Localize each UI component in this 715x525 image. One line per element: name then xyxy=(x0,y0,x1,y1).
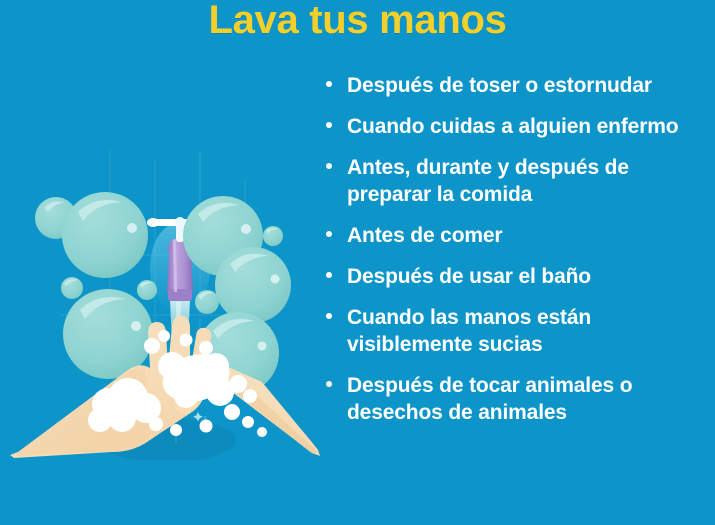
bullet-dot-icon xyxy=(326,81,332,87)
list-item: Antes de comer xyxy=(322,222,715,249)
list-item-label: Después de tocar animales o desechos de … xyxy=(347,372,715,426)
list-item: Después de toser o estornudar xyxy=(322,72,715,99)
page-title: Lava tus manos xyxy=(0,0,715,43)
bullet-dot-icon xyxy=(326,231,332,237)
bullet-dot-icon xyxy=(326,381,332,387)
list-item-label: Cuando cuidas a alguien enfermo xyxy=(347,113,715,140)
list-item: Después de tocar animales o desechos de … xyxy=(322,372,715,426)
list-item: Antes, durante y después de preparar la … xyxy=(322,154,715,208)
list-item-label: Antes de comer xyxy=(347,222,715,249)
list-item-label: Cuando las manos están visiblemente suci… xyxy=(347,304,715,358)
handwashing-reasons-list: Después de toser o estornudar Cuando cui… xyxy=(322,72,715,440)
bubble xyxy=(195,290,219,314)
handwashing-poster: Lava tus manos xyxy=(0,0,715,525)
bubble xyxy=(263,226,283,246)
bubble xyxy=(61,277,83,299)
list-item-label: Después de toser o estornudar xyxy=(347,72,715,99)
list-item-label: Después de usar el baño xyxy=(347,263,715,290)
list-item: Después de usar el baño xyxy=(322,263,715,290)
bubble xyxy=(137,280,157,300)
bullet-dot-icon xyxy=(326,272,332,278)
list-item-label: Antes, durante y después de preparar la … xyxy=(347,154,715,208)
bullet-dot-icon xyxy=(326,163,332,169)
handwashing-illustration xyxy=(0,140,330,460)
bullet-dot-icon xyxy=(326,313,332,319)
bubble xyxy=(62,192,148,278)
bullet-dot-icon xyxy=(326,122,332,128)
list-item: Cuando las manos están visiblemente suci… xyxy=(322,304,715,358)
handwashing-graphic xyxy=(0,140,330,460)
list-item: Cuando cuidas a alguien enfermo xyxy=(322,113,715,140)
bubble xyxy=(215,247,291,323)
